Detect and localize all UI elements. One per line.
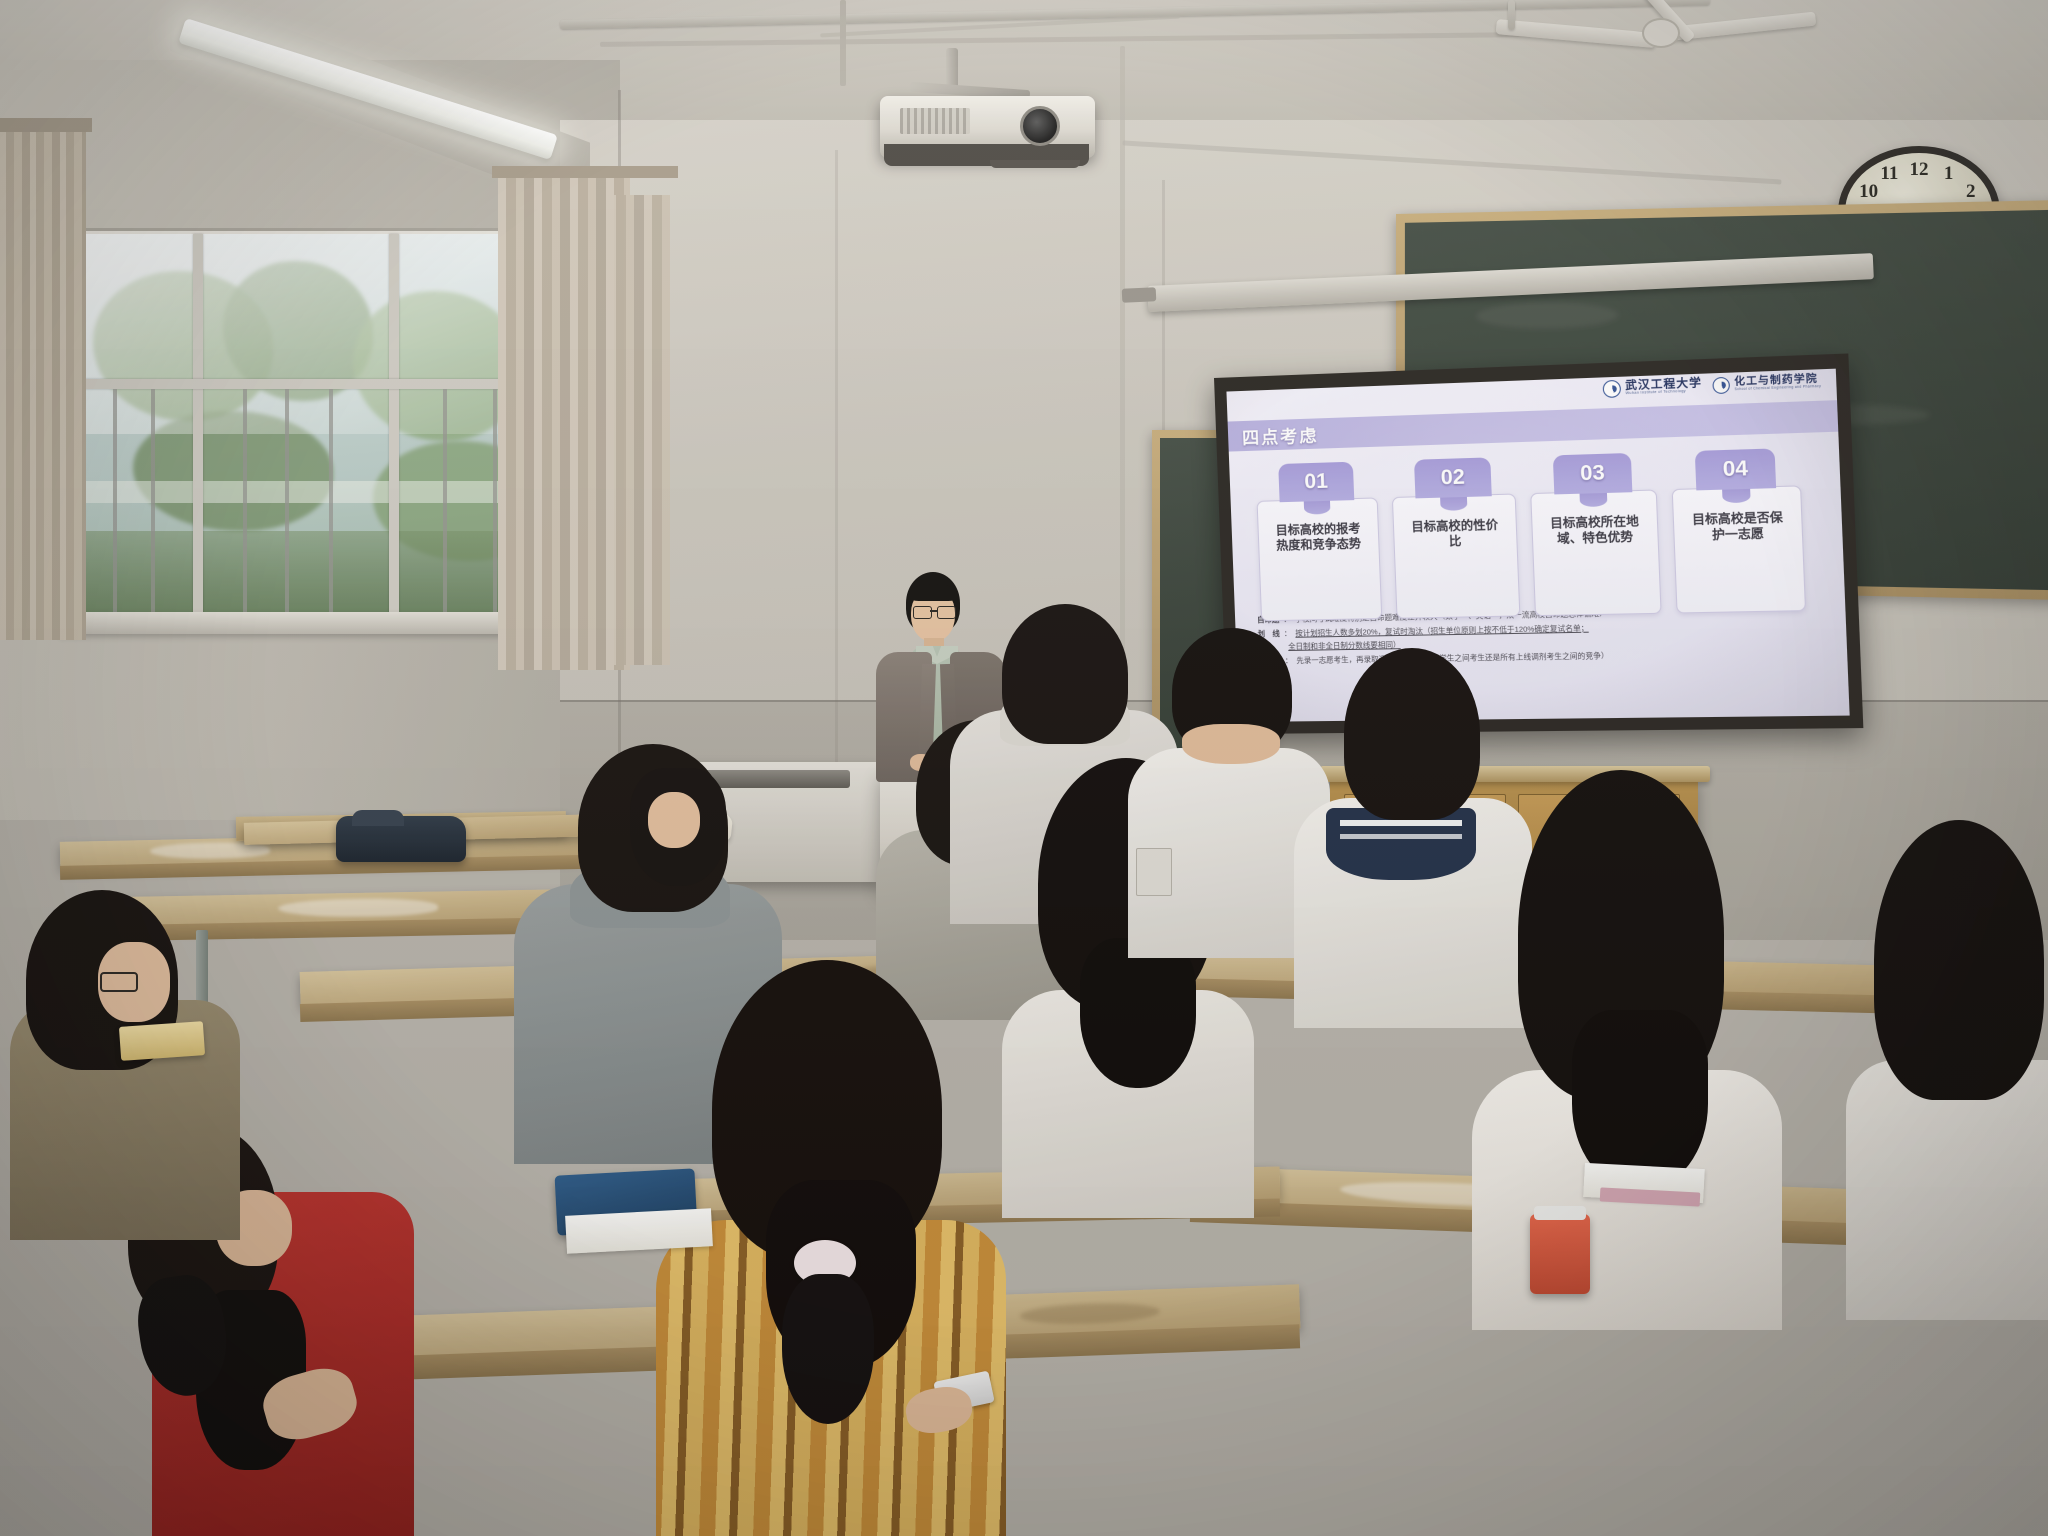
conduit-drop-1: [840, 0, 846, 86]
curtain-rod-left: [0, 118, 92, 132]
eyeglasses-icon: [100, 972, 138, 992]
eyeglasses-bridge: [930, 610, 937, 612]
notebook-yellow: [119, 1021, 205, 1061]
curtain-rod-right: [492, 166, 678, 178]
clock-numeral: 11: [1880, 163, 1898, 185]
university-seal-icon: [1603, 380, 1622, 398]
clock-numeral: 1: [1944, 163, 1954, 185]
card-number: 03: [1553, 453, 1633, 494]
student-face: [648, 792, 700, 848]
clock-numeral: 12: [1910, 159, 1929, 181]
slide-cards: 01 目标高校的报考热度和竞争态势 02 目标高校的性价比 03: [1255, 447, 1819, 621]
card-number: 02: [1414, 457, 1492, 498]
student-edge-right: [1846, 820, 2048, 1320]
student-neck: [1182, 724, 1280, 764]
logo-school-en: School of Chemical Engineering and Pharm…: [1735, 385, 1822, 391]
card-body: 目标高校的性价比: [1392, 493, 1521, 618]
student-hair-back: [1080, 938, 1196, 1088]
student-far-right: [1452, 770, 1792, 1330]
ceiling-projector: [870, 48, 1100, 178]
classroom-photo: 12 1 2 3 4 5 6 7 8 9 10 11 四点考虑: [0, 0, 2048, 1536]
eyeglasses-icon: [913, 606, 932, 619]
student-ponytail: [782, 1274, 874, 1424]
card-text: 目标高校所在地域、特色优势: [1546, 514, 1644, 548]
slide-card: 02 目标高校的性价比: [1390, 457, 1520, 619]
curtain-right-2: [608, 195, 670, 665]
slide-header-band: 四点考虑: [1228, 399, 1850, 451]
card-text: 目标高校的报考热度和竞争态势: [1271, 521, 1365, 554]
collar-stripe-2: [1340, 834, 1462, 839]
ceiling-fan: [1496, 0, 1816, 64]
slide-card: 04 目标高校是否保护一志愿: [1670, 448, 1806, 614]
backpack-handle: [352, 810, 404, 826]
card-text: 目标高校的性价比: [1407, 517, 1503, 551]
logo-school: 化工与制药学院 School of Chemical Engineering a…: [1713, 373, 1822, 394]
card-body: 目标高校是否保护一志愿: [1672, 485, 1806, 613]
card-number: 01: [1278, 462, 1354, 503]
screen-mount-bracket: [1122, 287, 1157, 303]
school-seal-icon: [1713, 376, 1731, 393]
slide-card: 03 目标高校所在地域、特色优势: [1529, 452, 1662, 616]
card-body: 目标高校的报考热度和竞争态势: [1257, 497, 1383, 621]
logo-university: 武汉工程大学 Wuhan Institute of Technology: [1603, 377, 1703, 398]
wall-seam-3: [835, 150, 838, 850]
clock-numeral: 10: [1859, 181, 1878, 203]
lecturer-fringe: [910, 584, 957, 601]
wall-outlet: [1136, 848, 1172, 896]
thermos-cup: [1530, 1214, 1590, 1294]
thermos-lid: [1534, 1206, 1586, 1220]
slide-card: 01 目标高校的报考热度和竞争态势: [1255, 461, 1382, 621]
student-hair: [1002, 604, 1128, 744]
clock-numeral: 2: [1966, 181, 1976, 203]
slide-title: 四点考虑: [1242, 421, 1319, 449]
curtain-left: [0, 120, 86, 640]
card-number: 04: [1695, 448, 1776, 490]
logo-university-en: Wuhan Institute of Technology: [1626, 389, 1703, 395]
paper-sheet: [565, 1208, 713, 1254]
card-text: 目标高校是否保护一志愿: [1688, 510, 1789, 545]
slide-logos: 武汉工程大学 Wuhan Institute of Technology 化工与…: [1603, 372, 1821, 398]
card-body: 目标高校所在地域、特色优势: [1530, 489, 1661, 616]
collar-stripe: [1340, 820, 1462, 826]
fan-rod: [1508, 0, 1515, 30]
student-hair: [1874, 820, 2044, 1100]
